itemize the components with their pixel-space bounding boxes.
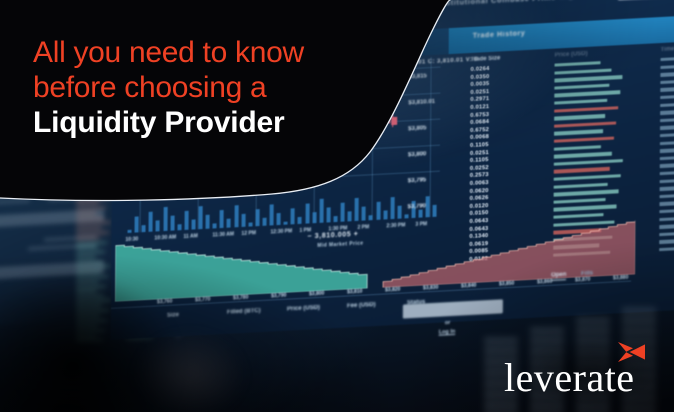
headline-block: All you need to know before choosing a L… (33, 35, 385, 140)
leverate-logo[interactable]: leverate (504, 338, 660, 400)
headline-line-3: Liquidity Provider (33, 105, 385, 140)
leverate-wordmark: leverate (504, 358, 635, 398)
headline-line-2: before choosing a (33, 70, 385, 105)
headline-line-1: All you need to know (33, 35, 385, 70)
leverate-promo-banner: Institutional Coinbase Prime Log In L: 3… (0, 0, 674, 412)
